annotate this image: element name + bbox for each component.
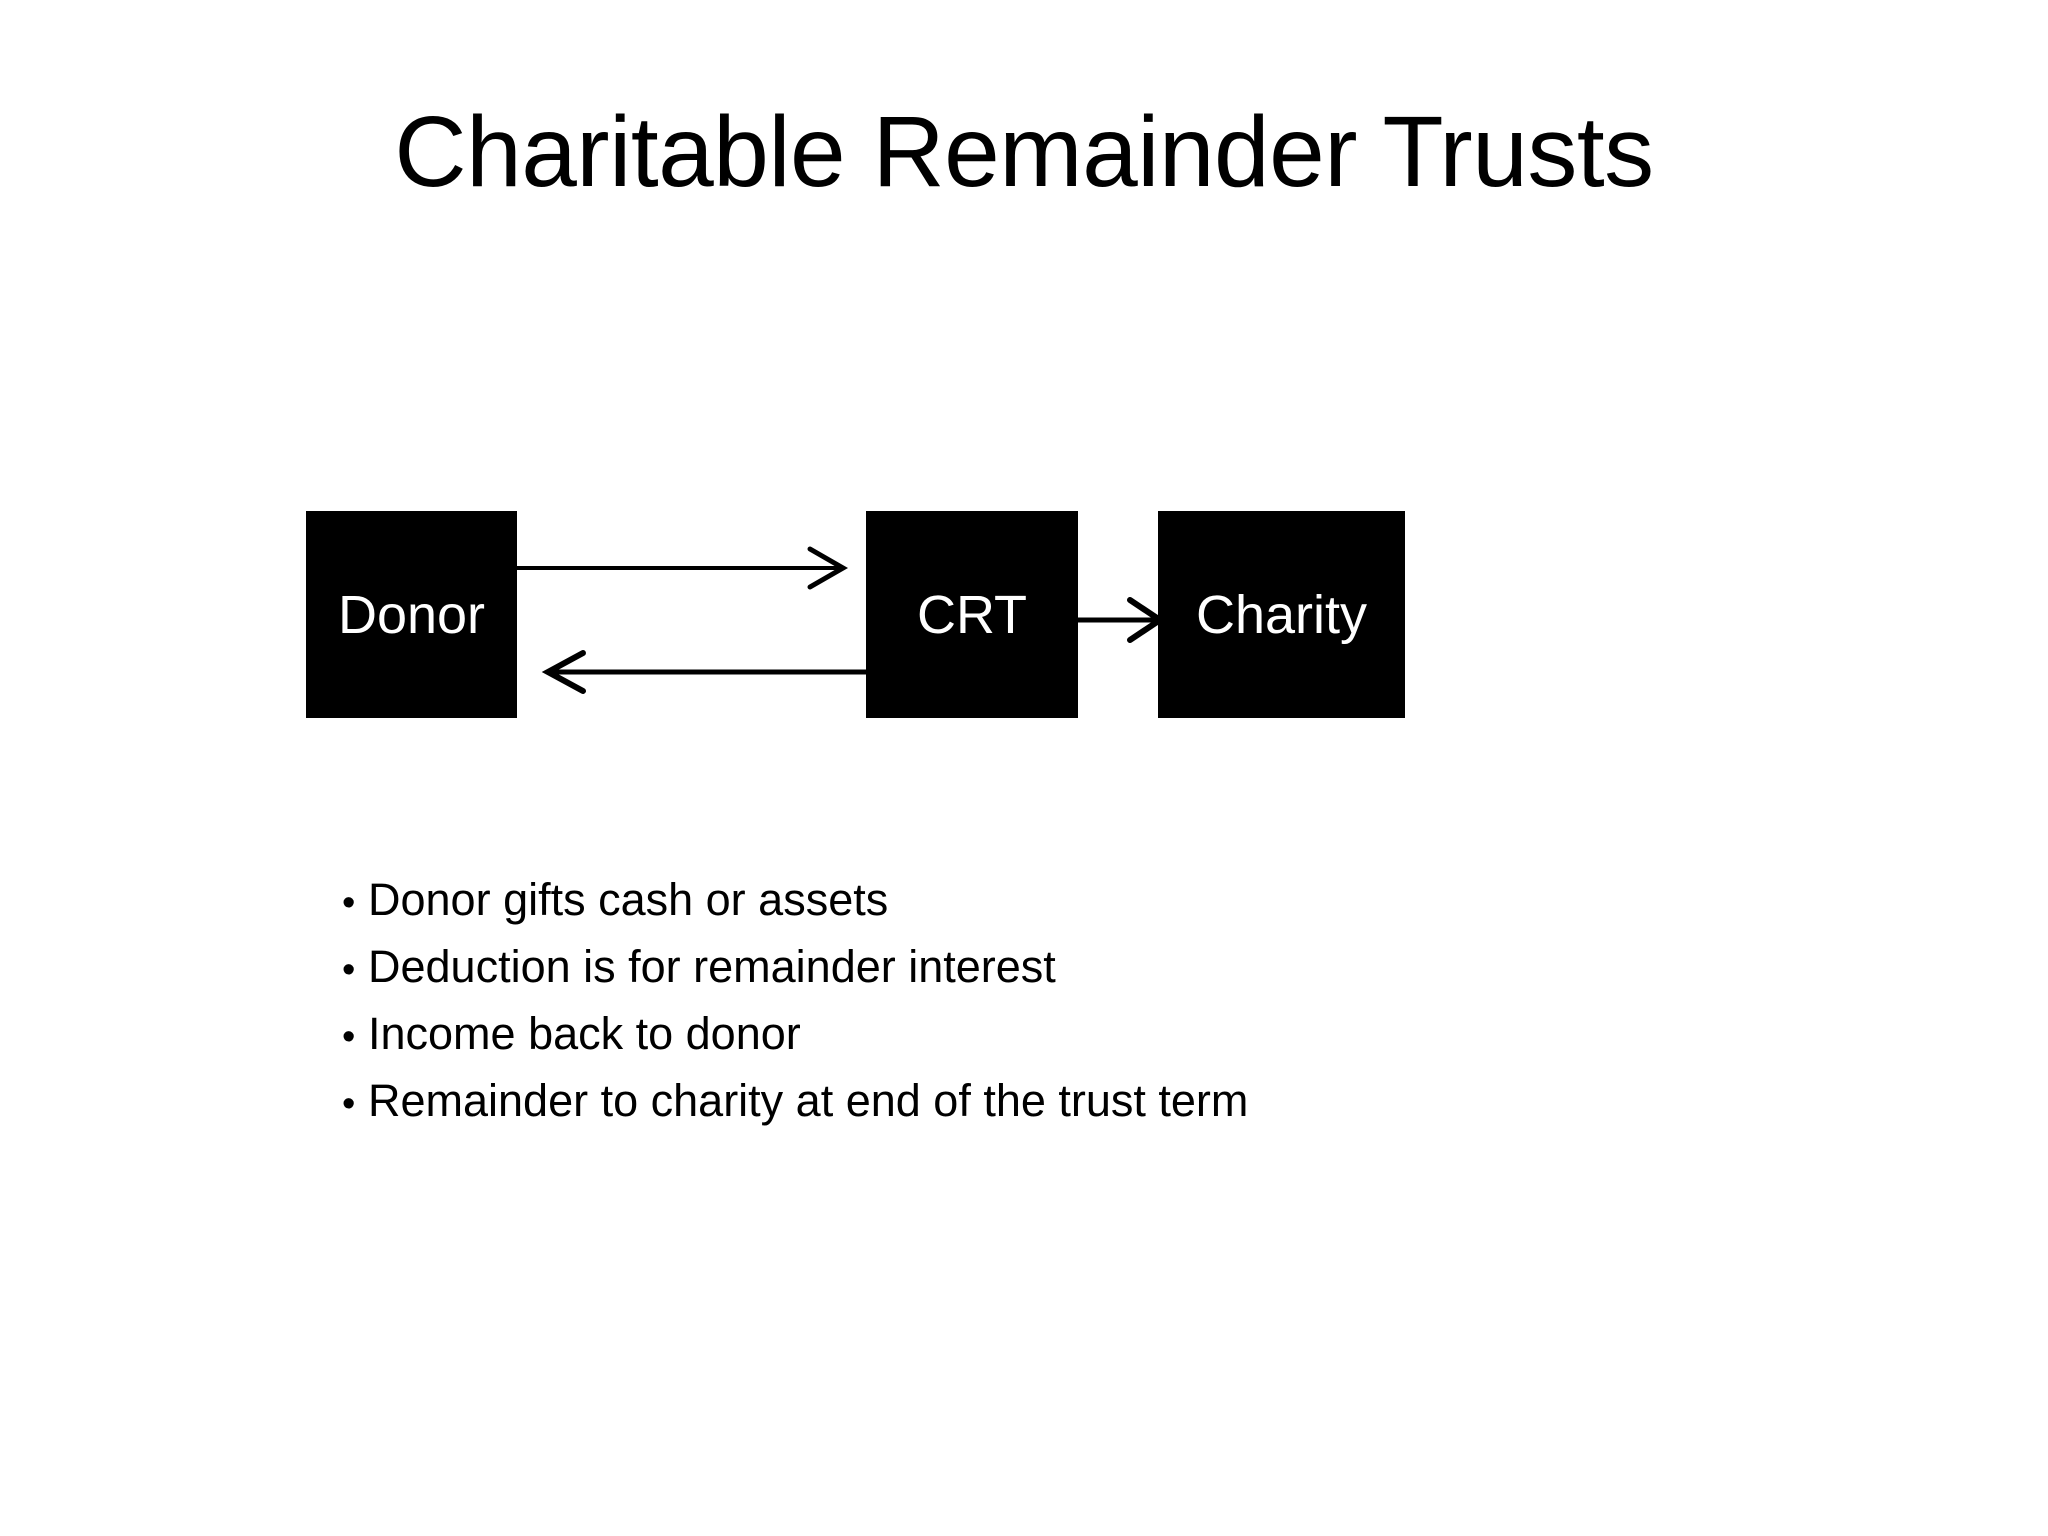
page-title: Charitable Remainder Trusts bbox=[0, 96, 2048, 208]
list-item-text: Remainder to charity at end of the trust… bbox=[368, 1069, 1248, 1132]
diagram-node-donor[interactable]: Donor bbox=[306, 511, 517, 718]
bullet-glyph-icon: • bbox=[342, 1073, 368, 1136]
bullet-glyph-icon: • bbox=[342, 872, 368, 935]
list-item-text: Donor gifts cash or assets bbox=[368, 868, 888, 931]
bullet-glyph-icon: • bbox=[342, 939, 368, 1002]
diagram-node-charity[interactable]: Charity bbox=[1158, 511, 1405, 718]
diagram-node-crt[interactable]: CRT bbox=[866, 511, 1078, 718]
diagram-connector-layer bbox=[0, 0, 2048, 1536]
slide-canvas: Charitable Remainder Trusts Donor CRT Ch… bbox=[0, 0, 2048, 1536]
bullet-list: • Donor gifts cash or assets • Deduction… bbox=[342, 868, 1742, 1136]
diagram-node-charity-label: Charity bbox=[1196, 588, 1367, 642]
list-item-text: Income back to donor bbox=[368, 1002, 801, 1065]
list-item: • Remainder to charity at end of the tru… bbox=[342, 1069, 1742, 1136]
list-item: • Deduction is for remainder interest bbox=[342, 935, 1742, 1002]
list-item: • Donor gifts cash or assets bbox=[342, 868, 1742, 935]
diagram-node-crt-label: CRT bbox=[917, 588, 1027, 642]
connector-crt-to-charity-arrow[interactable] bbox=[1078, 600, 1160, 640]
bullet-glyph-icon: • bbox=[342, 1006, 368, 1069]
diagram-node-donor-label: Donor bbox=[338, 588, 485, 642]
list-item: • Income back to donor bbox=[342, 1002, 1742, 1069]
connector-crt-to-donor-arrow[interactable] bbox=[548, 653, 866, 691]
list-item-text: Deduction is for remainder interest bbox=[368, 935, 1056, 998]
flow-diagram: Donor CRT Charity bbox=[0, 0, 2048, 1536]
connector-donor-to-crt-arrow[interactable] bbox=[517, 549, 843, 587]
